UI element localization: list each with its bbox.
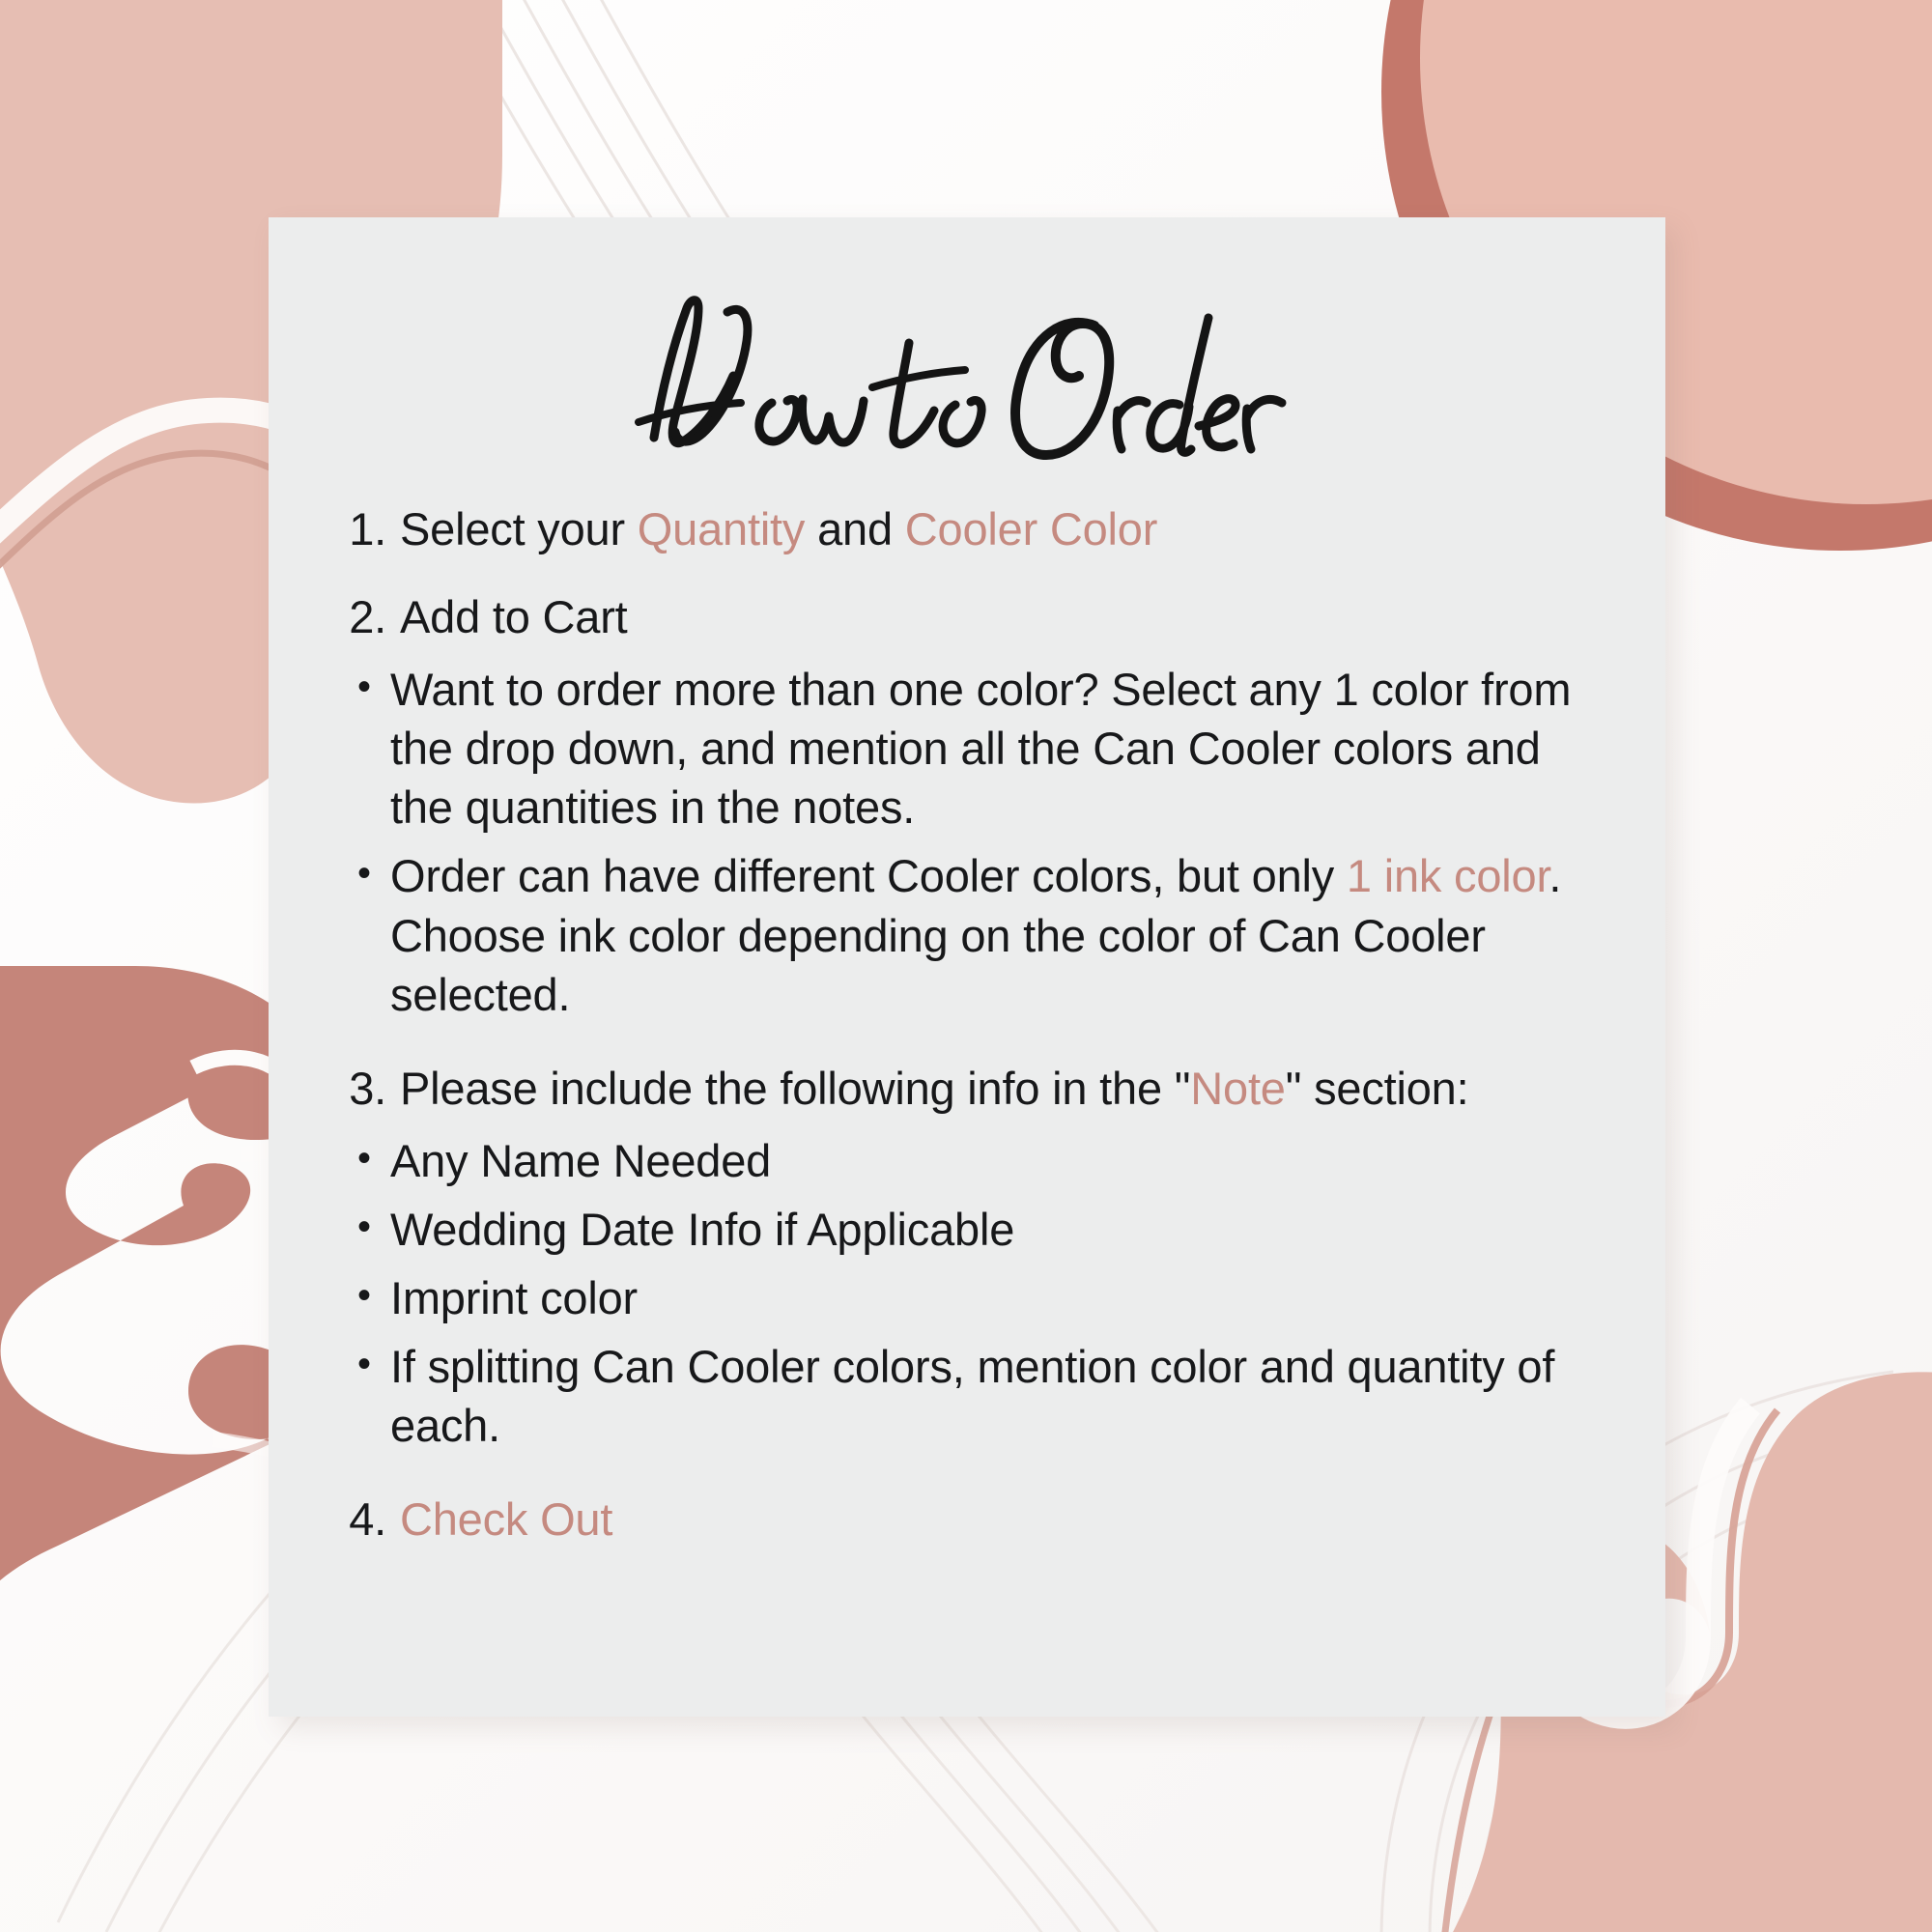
text-run: Add to Cart bbox=[400, 591, 628, 642]
arc-texture-bottom bbox=[850, 1700, 1198, 1932]
accent-phrase: 1 ink color bbox=[1347, 850, 1548, 901]
bullet-dot-icon: • bbox=[357, 660, 390, 715]
bullet-dot-icon: • bbox=[357, 1268, 390, 1323]
bullet-item: •Imprint color bbox=[336, 1268, 1611, 1327]
accent-phrase: Cooler Color bbox=[905, 503, 1157, 554]
text-run: If splitting Can Cooler colors, mention … bbox=[390, 1341, 1554, 1451]
bullet-text: Want to order more than one color? Selec… bbox=[390, 660, 1611, 837]
text-run: Want to order more than one color? Selec… bbox=[390, 664, 1571, 833]
bullet-item: •Any Name Needed bbox=[336, 1131, 1611, 1190]
bullet-item: •If splitting Can Cooler colors, mention… bbox=[336, 1337, 1611, 1455]
instructions-list: 1.Select your Quantity and Cooler Color2… bbox=[336, 499, 1611, 1577]
text-run: Select your bbox=[400, 503, 638, 554]
bullet-text: Imprint color bbox=[390, 1268, 1611, 1327]
step-text: Please include the following info in the… bbox=[400, 1059, 1611, 1118]
step-spacer bbox=[336, 572, 1611, 587]
bullet-item: •Order can have different Cooler colors,… bbox=[336, 846, 1611, 1023]
arc-texture-upper-right bbox=[1681, 39, 1932, 386]
group-spacer bbox=[336, 1464, 1611, 1490]
text-run: Any Name Needed bbox=[390, 1135, 771, 1186]
step-text: Select your Quantity and Cooler Color bbox=[400, 499, 1611, 558]
bullet-item: •Want to order more than one color? Sele… bbox=[336, 660, 1611, 837]
numbered-step: 4.Check Out bbox=[336, 1490, 1611, 1548]
bullet-dot-icon: • bbox=[357, 1131, 390, 1186]
text-run: Wedding Date Info if Applicable bbox=[390, 1204, 1014, 1255]
text-run: and bbox=[805, 503, 905, 554]
numbered-step: 3.Please include the following info in t… bbox=[336, 1059, 1611, 1118]
bullet-text: Any Name Needed bbox=[390, 1131, 1611, 1190]
text-run: " section: bbox=[1286, 1063, 1469, 1114]
step-text: Check Out bbox=[400, 1490, 1611, 1548]
page-title bbox=[269, 256, 1665, 497]
how-to-order-script-lettering bbox=[619, 275, 1315, 478]
accent-phrase: Note bbox=[1190, 1063, 1285, 1114]
text-run: Order can have different Cooler colors, … bbox=[390, 850, 1347, 901]
blob-bottom-right-tail bbox=[1439, 1681, 1502, 1932]
step-spacer bbox=[336, 1562, 1611, 1577]
step-text: Add to Cart bbox=[400, 587, 1611, 646]
step-number: 3. bbox=[336, 1059, 400, 1118]
bullet-dot-icon: • bbox=[357, 1200, 390, 1255]
content-card: 1.Select your Quantity and Cooler Color2… bbox=[269, 217, 1665, 1717]
bullet-item: •Wedding Date Info if Applicable bbox=[336, 1200, 1611, 1259]
bullet-text: Wedding Date Info if Applicable bbox=[390, 1200, 1611, 1259]
step-number: 4. bbox=[336, 1490, 400, 1548]
accent-phrase: Quantity bbox=[638, 503, 805, 554]
poster-canvas: 1.Select your Quantity and Cooler Color2… bbox=[0, 0, 1932, 1932]
numbered-step: 2.Add to Cart bbox=[336, 587, 1611, 646]
text-run: Please include the following info in the… bbox=[400, 1063, 1190, 1114]
bullet-dot-icon: • bbox=[357, 846, 390, 901]
bullet-text: If splitting Can Cooler colors, mention … bbox=[390, 1337, 1611, 1455]
bullet-text: Order can have different Cooler colors, … bbox=[390, 846, 1611, 1023]
numbered-step: 1.Select your Quantity and Cooler Color bbox=[336, 499, 1611, 558]
group-spacer bbox=[336, 1034, 1611, 1059]
text-run: Imprint color bbox=[390, 1272, 638, 1323]
step-number: 2. bbox=[336, 587, 400, 646]
step-number: 1. bbox=[336, 499, 400, 558]
bullet-dot-icon: • bbox=[357, 1337, 390, 1392]
accent-phrase: Check Out bbox=[400, 1493, 612, 1545]
